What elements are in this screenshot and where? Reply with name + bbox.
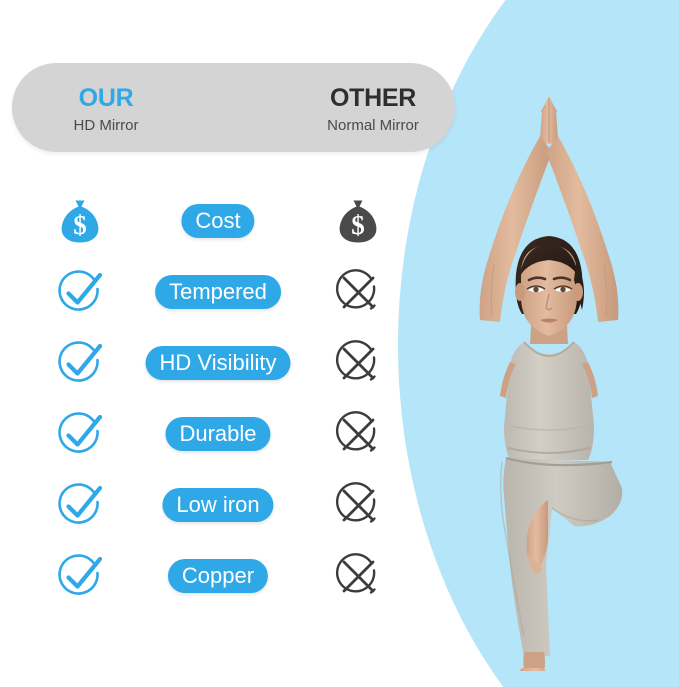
comparison-row: Low iron xyxy=(0,469,455,540)
header-ours-subtitle: HD Mirror xyxy=(44,116,168,136)
svg-text:$: $ xyxy=(351,210,365,240)
money-bag-icon: $ xyxy=(333,196,383,246)
feature-pill: HD Visibility xyxy=(146,346,291,380)
comparison-row: HD Visibility xyxy=(0,327,455,398)
comparison-row: Tempered xyxy=(0,256,455,327)
svg-text:$: $ xyxy=(73,210,87,240)
feature-pill: Cost xyxy=(181,204,254,238)
header-other-column: OTHER Normal Mirror xyxy=(298,83,448,136)
check-circle-icon xyxy=(55,267,105,317)
feature-pill: Tempered xyxy=(155,275,281,309)
feature-pill: Copper xyxy=(168,559,268,593)
check-circle-icon xyxy=(55,338,105,388)
check-circle-icon xyxy=(55,480,105,530)
money-bag-icon: $ xyxy=(55,196,105,246)
header-other-subtitle: Normal Mirror xyxy=(298,116,448,136)
feature-pill: Low iron xyxy=(162,488,273,522)
infographic-canvas: OUR HD Mirror OTHER Normal Mirror $ Cost xyxy=(0,0,679,687)
comparison-row: $ Cost $ xyxy=(0,185,455,256)
comparison-header-pill: OUR HD Mirror OTHER Normal Mirror xyxy=(12,63,455,152)
comparison-row: Copper xyxy=(0,540,455,611)
comparison-rows: $ Cost $ Tempered xyxy=(0,185,455,611)
feature-pill: Durable xyxy=(165,417,270,451)
check-circle-icon xyxy=(55,551,105,601)
x-circle-icon xyxy=(333,409,383,459)
x-circle-icon xyxy=(333,338,383,388)
hero-yoga-figure xyxy=(424,96,674,671)
x-circle-icon xyxy=(333,267,383,317)
comparison-row: Durable xyxy=(0,398,455,469)
header-ours-title: OUR xyxy=(44,83,168,113)
check-circle-icon xyxy=(55,409,105,459)
header-other-title: OTHER xyxy=(298,83,448,113)
header-ours-column: OUR HD Mirror xyxy=(44,83,168,136)
x-circle-icon xyxy=(333,551,383,601)
x-circle-icon xyxy=(333,480,383,530)
